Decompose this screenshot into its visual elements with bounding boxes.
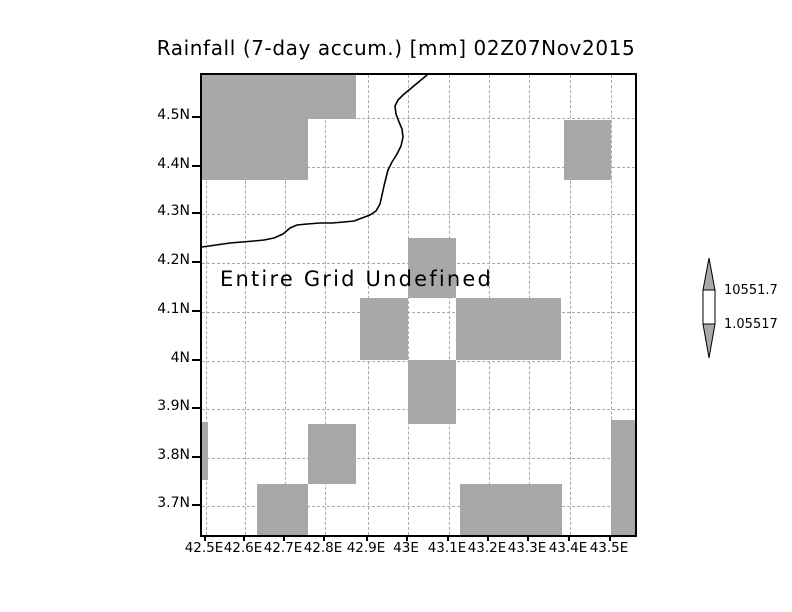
colorbar-lower-label: 1.05517 — [724, 317, 778, 332]
shaded-cell — [257, 484, 308, 535]
y-tick-mark — [192, 504, 200, 506]
shaded-cell — [611, 420, 635, 535]
y-tick-label: 4.4N — [130, 156, 190, 172]
x-axis-labels: 42.5E42.6E42.7E42.8E42.9E43E43.1E43.2E43… — [200, 540, 633, 562]
gridline-horizontal — [202, 312, 635, 313]
gridline-horizontal — [202, 214, 635, 215]
y-tick-label: 3.7N — [130, 495, 190, 511]
y-tick-label: 4.5N — [130, 107, 190, 123]
y-tick-label: 4N — [130, 350, 190, 366]
y-tick-label: 3.8N — [130, 447, 190, 463]
y-tick-mark — [192, 165, 200, 167]
y-tick-label: 4.3N — [130, 203, 190, 219]
gridline-vertical — [449, 75, 450, 535]
colorbar-upper-label: 10551.7 — [724, 283, 778, 298]
colorbar[interactable]: 10551.7 1.05517 — [700, 258, 724, 358]
colorbar-top-triangle — [703, 258, 715, 290]
colorbar-bottom-triangle — [703, 324, 715, 358]
shaded-cell — [360, 298, 408, 360]
shaded-cell — [308, 75, 356, 119]
y-tick-label: 3.9N — [130, 398, 190, 414]
shaded-cell — [202, 75, 308, 180]
y-tick-label: 4.2N — [130, 252, 190, 268]
shaded-cell — [460, 484, 562, 535]
gridline-vertical — [408, 75, 409, 535]
undefined-grid-message: Entire Grid Undefined — [220, 267, 493, 291]
colorbar-graphic — [700, 258, 724, 358]
shaded-cell — [308, 424, 356, 484]
y-tick-label: 4.1N — [130, 301, 190, 317]
plot-canvas: Rainfall (7-day accum.) [mm] 02Z07Nov201… — [0, 0, 792, 612]
shaded-cell — [202, 422, 208, 480]
y-tick-mark — [192, 407, 200, 409]
y-tick-mark — [192, 116, 200, 118]
plot-frame: Entire Grid Undefined — [200, 73, 637, 537]
gridline-horizontal — [202, 458, 635, 459]
y-tick-mark — [192, 456, 200, 458]
x-tick-label: 43.5E — [574, 540, 644, 556]
y-tick-mark — [192, 359, 200, 361]
shaded-cell — [456, 298, 561, 360]
plot-inner: Entire Grid Undefined — [202, 75, 635, 535]
y-axis-labels: 4.5N4.4N4.3N4.2N4.1N4N3.9N3.8N3.7N — [128, 73, 190, 533]
shaded-cell — [564, 120, 611, 180]
y-tick-mark — [192, 310, 200, 312]
y-tick-mark — [192, 212, 200, 214]
shaded-cell — [408, 360, 456, 424]
y-tick-mark — [192, 261, 200, 263]
colorbar-middle-rect — [703, 290, 715, 324]
page-title: Rainfall (7-day accum.) [mm] 02Z07Nov201… — [0, 36, 792, 60]
